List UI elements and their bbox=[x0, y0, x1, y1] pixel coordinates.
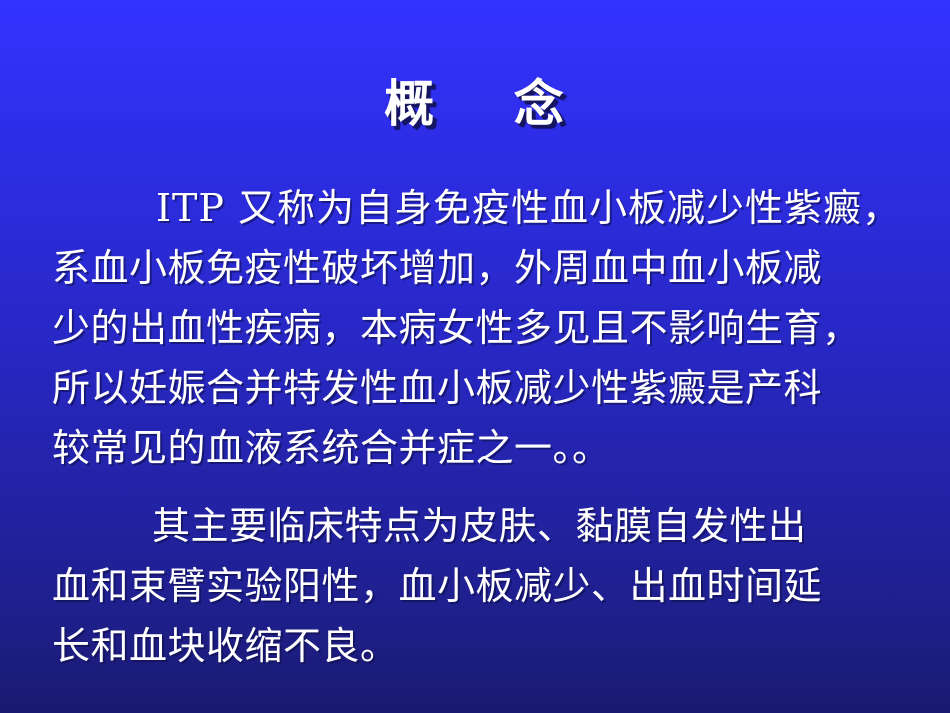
paragraph-1-line-3: 少的出血性疾病，本病女性多见且不影响生育， bbox=[52, 298, 908, 358]
paragraph-1-line-4: 所以妊娠合并特发性血小板减少性紫癜是产科 bbox=[52, 358, 908, 418]
slide-title: 概 念 bbox=[0, 78, 950, 131]
paragraph-2-line-2: 血和束臂实验阳性，血小板减少、出血时间延 bbox=[52, 556, 908, 616]
paragraph-1-line-5: 较常见的血液系统合并症之一。。 bbox=[52, 418, 908, 478]
paragraph-1-line-1: ITP 又称为自身免疫性血小板减少性紫癜， bbox=[52, 178, 908, 238]
paragraph-2-line-1: 其主要临床特点为皮肤、黏膜自发性出 bbox=[52, 496, 908, 556]
paragraph-2: 其主要临床特点为皮肤、黏膜自发性出 血和束臂实验阳性，血小板减少、出血时间延 长… bbox=[52, 496, 908, 676]
paragraph-1-line-2: 系血小板免疫性破坏增加，外周血中血小板减 bbox=[52, 238, 908, 298]
presentation-slide: 概 念 ITP 又称为自身免疫性血小板减少性紫癜， 系血小板免疫性破坏增加，外周… bbox=[0, 0, 950, 713]
paragraph-1: ITP 又称为自身免疫性血小板减少性紫癜， 系血小板免疫性破坏增加，外周血中血小… bbox=[52, 178, 908, 478]
slide-body: ITP 又称为自身免疫性血小板减少性紫癜， 系血小板免疫性破坏增加，外周血中血小… bbox=[52, 178, 908, 676]
paragraph-2-line-3: 长和血块收缩不良。 bbox=[52, 616, 908, 676]
